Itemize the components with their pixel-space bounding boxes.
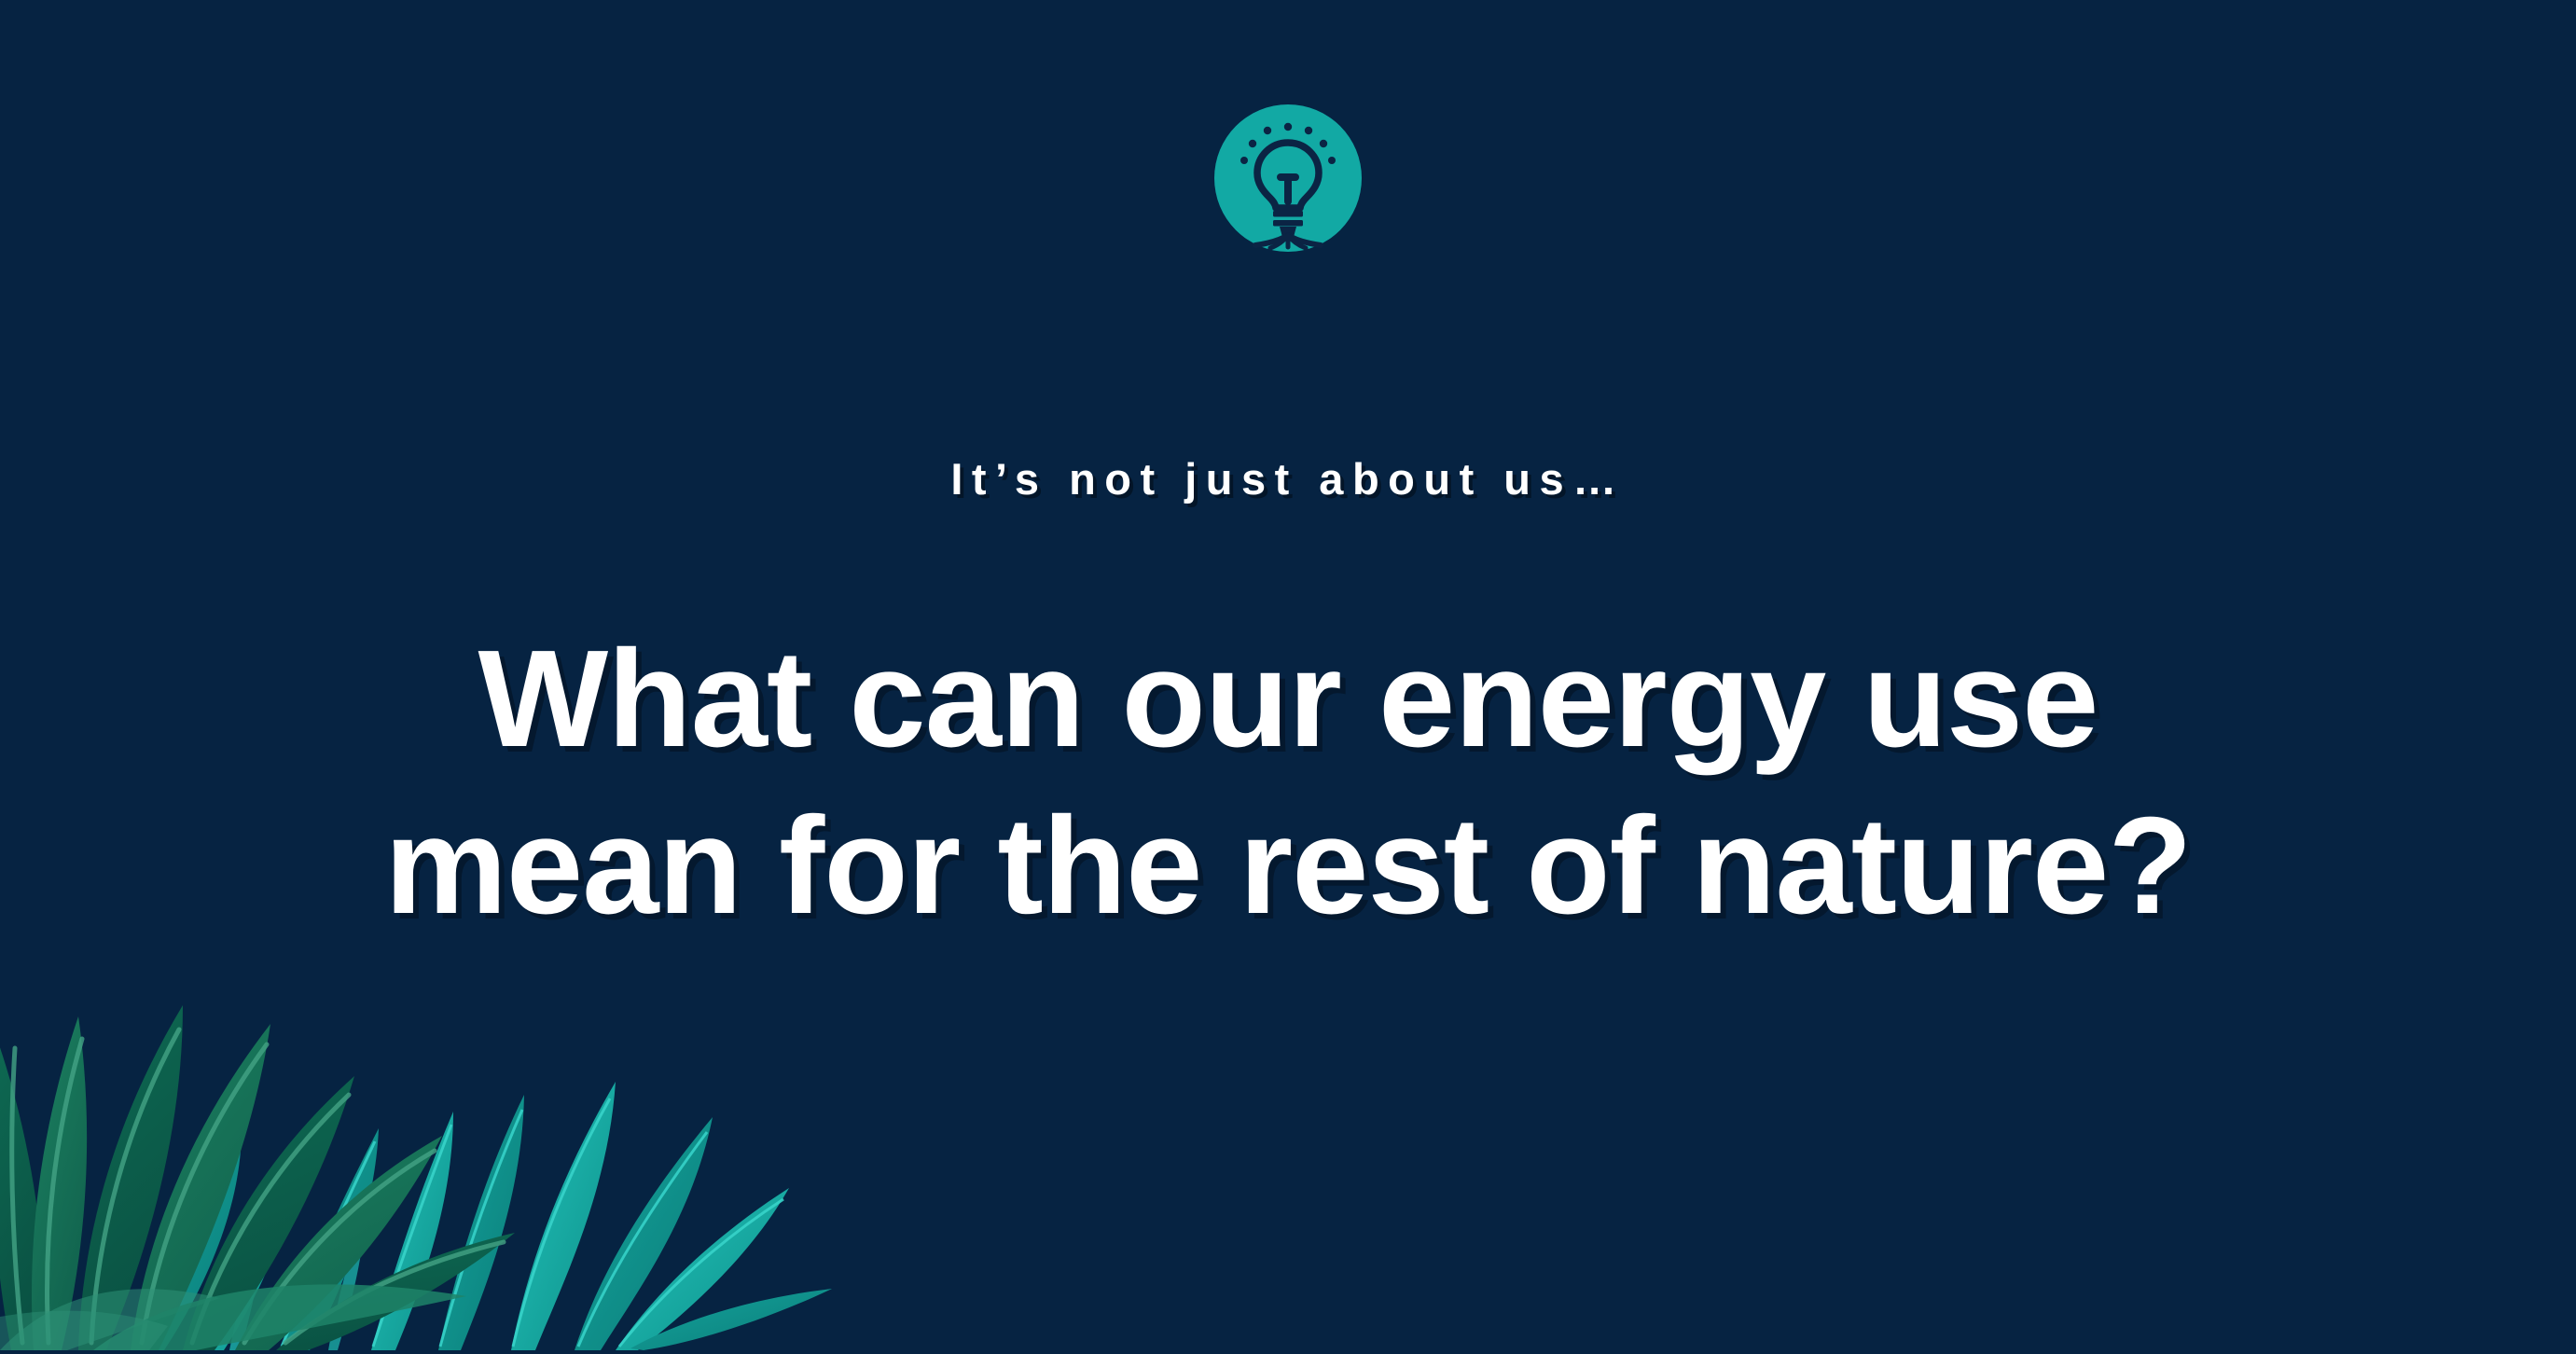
slide-canvas: It’s not just about us… What can our ene…: [0, 0, 2576, 1354]
headline-line-1: What can our energy use: [0, 615, 2576, 782]
headline-line-2: mean for the rest of nature?: [0, 782, 2576, 949]
bulb-base-stripe-1: [1273, 211, 1303, 217]
logo-badge: [1214, 104, 1362, 252]
green-leaf-cluster: [0, 1005, 515, 1350]
page-title: What can our energy use mean for the res…: [0, 615, 2576, 949]
cyan-frond-cluster: [132, 1082, 832, 1350]
bulb-base-stripe-2: [1273, 220, 1303, 227]
eyebrow-text: It’s not just about us…: [0, 454, 2576, 504]
lightbulb-plant-roots-icon: [1214, 104, 1362, 252]
